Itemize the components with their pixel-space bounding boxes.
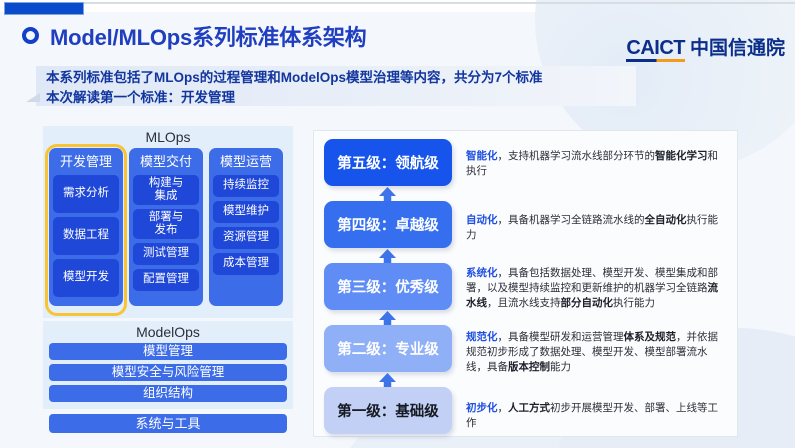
modelops-row[interactable]: 模型安全与风险管理: [49, 364, 287, 381]
mlops-column[interactable]: 模型运营持续监控模型维护资源管理成本管理: [209, 148, 283, 306]
level-keyword: 自动化: [466, 214, 498, 226]
mlops-cell[interactable]: 模型开发: [53, 259, 119, 297]
slide-canvas: Model/MLOps系列标准体系架构 CAICT 中国信通院 本系列标准包括了…: [0, 0, 795, 448]
modelops-group: ModelOps 模型管理模型安全与风险管理组织结构: [43, 321, 293, 409]
maturity-level-chip[interactable]: 第五级：领航级: [324, 139, 452, 186]
subtitle-line-1: 本系列标准包括了MLOps的过程管理和ModelOps模型治理等内容，共分为7个…: [46, 68, 646, 88]
mlops-column[interactable]: 开发管理需求分析数据工程模型开发: [49, 148, 123, 306]
mlops-caption: MLOps: [43, 129, 293, 145]
maturity-level-chip[interactable]: 第三级：优秀级: [324, 263, 452, 310]
maturity-level-row: 第四级：卓越级自动化，具备机器学习全链路流水线的全自动化执行能力: [314, 201, 739, 248]
modelops-rows: 模型管理模型安全与风险管理组织结构: [49, 343, 287, 406]
subtitle-text: 本系列标准包括了MLOps的过程管理和ModelOps模型治理等内容，共分为7个…: [46, 68, 646, 107]
maturity-level-row: 第五级：领航级智能化，支持机器学习流水线部分环节的智能化学习和执行: [314, 139, 739, 186]
mlops-cell[interactable]: 模型维护: [213, 201, 279, 223]
caict-logo: CAICT 中国信通院: [626, 38, 785, 62]
modelops-row[interactable]: 组织结构: [49, 385, 287, 402]
maturity-level-chip[interactable]: 第一级：基础级: [324, 387, 452, 434]
mlops-column[interactable]: 模型交付构建与集成部署与发布测试管理配置管理: [129, 148, 203, 306]
modelops-row[interactable]: 模型管理: [49, 343, 287, 360]
maturity-levels-panel: 第五级：领航级智能化，支持机器学习流水线部分环节的智能化学习和执行第四级：卓越级…: [313, 130, 738, 437]
page-title: Model/MLOps系列标准体系架构: [50, 20, 366, 52]
level-keyword: 初步化: [466, 402, 498, 414]
maturity-level-row: 第三级：优秀级系统化，具备包括数据处理、模型开发、模型集成和部署，以及模型持续监…: [314, 263, 739, 310]
level-emphasis: 部分自动化: [561, 297, 614, 309]
level-emphasis: 智能化学习: [655, 150, 708, 162]
standards-architecture-panel: MLOps 开发管理需求分析数据工程模型开发模型交付构建与集成部署与发布测试管理…: [43, 126, 293, 441]
logo-caict-text: CAICT: [626, 38, 685, 62]
maturity-level-description: 自动化，具备机器学习全链路流水线的全自动化执行能力: [466, 213, 728, 243]
subtitle-line-2: 本次解读第一个标准：开发管理: [46, 88, 646, 108]
logo-caict-label: CAICT: [626, 37, 685, 59]
maturity-level-description: 规范化，具备模型研发和运营管理体系及规范，并依据规范初步形成了数据处理、模型开发…: [466, 330, 728, 375]
mlops-group: MLOps 开发管理需求分析数据工程模型开发模型交付构建与集成部署与发布测试管理…: [43, 126, 293, 318]
maturity-level-chip[interactable]: 第四级：卓越级: [324, 201, 452, 248]
mlops-cell[interactable]: 配置管理: [133, 269, 199, 291]
level-emphasis: 人工方式: [508, 402, 550, 414]
level-emphasis: 体系及规范: [624, 331, 677, 343]
mlops-column-header: 开发管理: [53, 152, 119, 172]
mlops-cell[interactable]: 资源管理: [213, 227, 279, 249]
circle-outline-icon: [22, 27, 39, 44]
system-and-tools-row[interactable]: 系统与工具: [49, 414, 287, 433]
maturity-level-description: 初步化，人工方式初步开展模型开发、部署、上线等工作: [466, 401, 728, 431]
mlops-cell[interactable]: 持续监控: [213, 175, 279, 197]
top-divider-line: [84, 2, 795, 4]
mlops-column-header: 模型交付: [133, 152, 199, 172]
level-keyword: 规范化: [466, 331, 498, 343]
mlops-cell[interactable]: 需求分析: [53, 175, 119, 213]
level-emphasis: 全自动化: [645, 214, 687, 226]
mlops-cell[interactable]: 部署与发布: [133, 209, 199, 239]
level-keyword: 智能化: [466, 150, 498, 162]
level-keyword: 系统化: [466, 267, 498, 279]
maturity-level-row: 第一级：基础级初步化，人工方式初步开展模型开发、部署、上线等工作: [314, 387, 739, 434]
maturity-level-description: 智能化，支持机器学习流水线部分环节的智能化学习和执行: [466, 149, 728, 179]
logo-chinese-name: 中国信通院: [690, 39, 785, 62]
top-left-accent-bar: [4, 2, 84, 15]
mlops-columns: 开发管理需求分析数据工程模型开发模型交付构建与集成部署与发布测试管理配置管理模型…: [49, 148, 283, 306]
mlops-cell[interactable]: 成本管理: [213, 253, 279, 275]
level-emphasis: 版本控制: [508, 361, 550, 373]
modelops-caption: ModelOps: [43, 324, 293, 340]
mlops-cell[interactable]: 构建与集成: [133, 175, 199, 205]
maturity-level-description: 系统化，具备包括数据处理、模型开发、模型集成和部署，以及模型持续监控和更新维护的…: [466, 266, 728, 311]
maturity-level-row: 第二级：专业级规范化，具备模型研发和运营管理体系及规范，并依据规范初步形成了数据…: [314, 325, 739, 372]
mlops-column-header: 模型运营: [213, 152, 279, 172]
slide-header: Model/MLOps系列标准体系架构 CAICT 中国信通院: [0, 16, 795, 62]
mlops-cell[interactable]: 测试管理: [133, 243, 199, 265]
logo-underline-rule: [626, 59, 685, 62]
maturity-level-chip[interactable]: 第二级：专业级: [324, 325, 452, 372]
mlops-cell[interactable]: 数据工程: [53, 217, 119, 255]
